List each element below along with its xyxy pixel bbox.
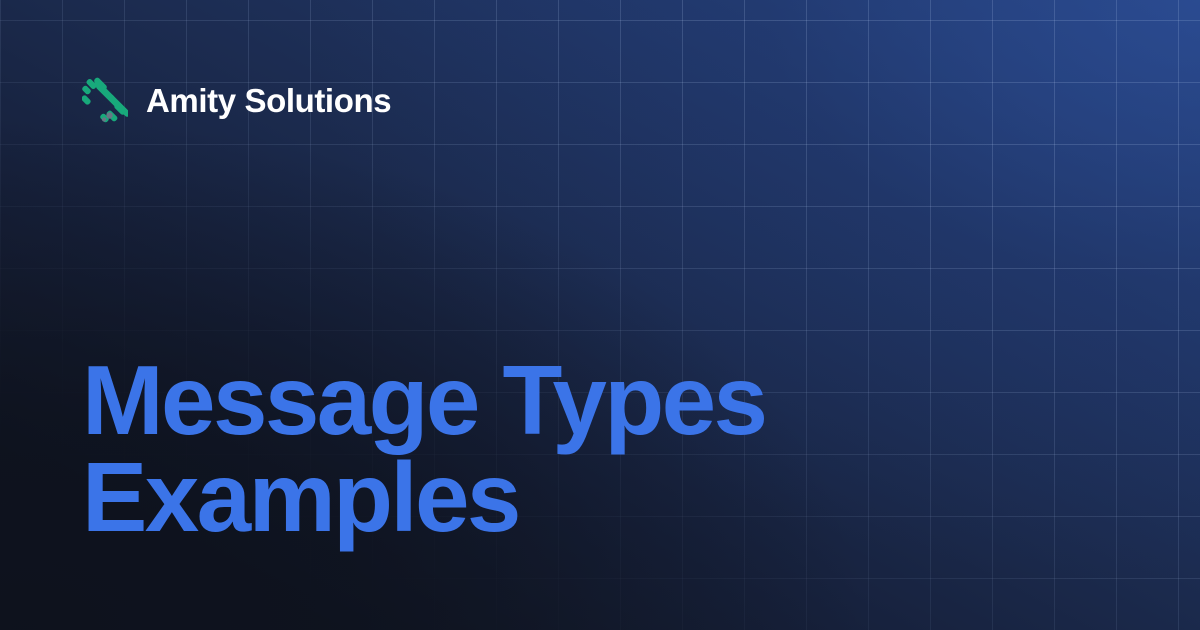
brand-name: Amity Solutions bbox=[146, 84, 391, 117]
page-title: Message Types Examples bbox=[82, 352, 982, 546]
brand-lockup: Amity Solutions bbox=[82, 76, 391, 124]
og-card: Amity Solutions Message Types Examples bbox=[0, 0, 1200, 630]
amity-logo-icon bbox=[82, 76, 128, 124]
